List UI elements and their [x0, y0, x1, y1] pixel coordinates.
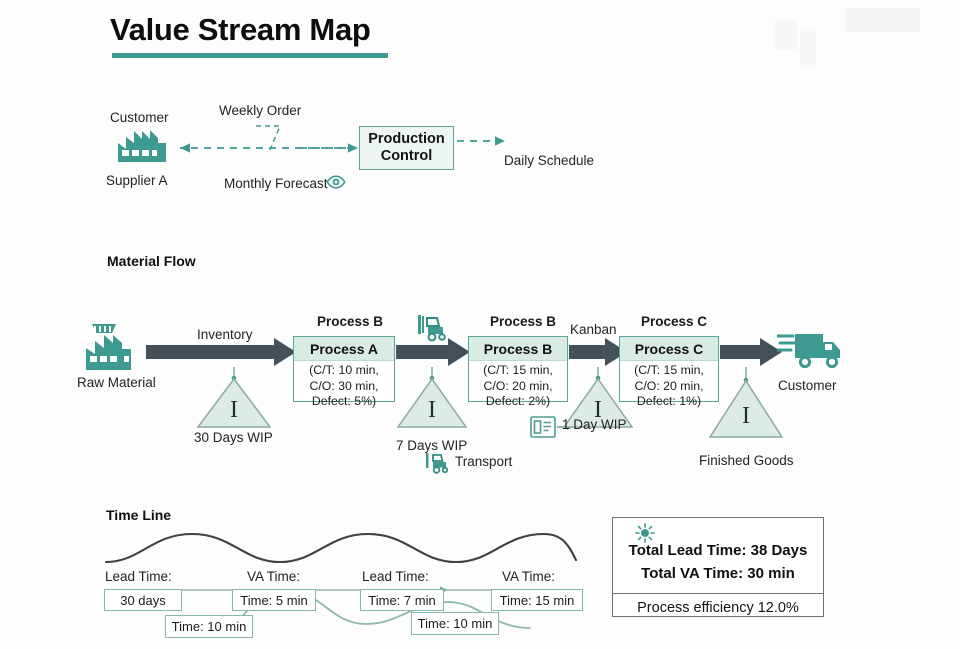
- process-title-1: Process A: [294, 337, 394, 361]
- timeline-label-4: VA Time:: [502, 569, 555, 584]
- process-metric: C/O: 30 min,: [298, 379, 390, 395]
- factory-hopper-icon: [80, 322, 142, 372]
- timeline-heading: Time Line: [106, 507, 171, 523]
- eye-icon: [326, 175, 346, 189]
- scan-artifact: [800, 28, 816, 68]
- inventory-triangle-2: I: [396, 367, 468, 429]
- process-metric: C/O: 20 min,: [473, 379, 563, 395]
- monthly-forecast-label: Monthly Forecast: [224, 176, 328, 191]
- timeline-box-lower-1: Time: 10 min: [165, 615, 253, 638]
- process-metric: Defect: 5%): [298, 394, 390, 410]
- production-control-line-1: Production: [368, 131, 445, 148]
- value-stream-map-canvas: Value Stream Map Customer Supplier A Wee…: [0, 0, 960, 649]
- daily-schedule-label: Daily Schedule: [504, 153, 594, 168]
- process-caption-1: Process B: [317, 314, 383, 329]
- forecast-connector: [254, 120, 304, 156]
- timeline-box-lead-2: Time: 7 min: [360, 589, 444, 611]
- process-metric: (C/T: 10 min,: [298, 363, 390, 379]
- inventory-symbol: I: [396, 397, 468, 424]
- raw-material-label: Raw Material: [77, 375, 156, 390]
- process-metric: Defect: 2%): [473, 394, 563, 410]
- delivery-truck-icon: [777, 330, 843, 372]
- process-caption-3: Process C: [641, 314, 707, 329]
- inventory-label-2: 7 Days WIP: [396, 438, 467, 453]
- process-title-2: Process B: [469, 337, 567, 361]
- inventory-label-4: Finished Goods: [699, 453, 794, 468]
- transport-caption: Transport: [455, 454, 512, 469]
- inventory-triangle-1: I: [196, 367, 272, 429]
- supplier-customer-label: Customer: [110, 110, 169, 125]
- process-box-1[interactable]: Process A (C/T: 10 min, C/O: 30 min, Def…: [293, 336, 395, 402]
- total-lead-time: Total Lead Time: 38 Days: [623, 540, 813, 563]
- material-arrow-2: [396, 338, 470, 366]
- weekly-order-label: Weekly Order: [219, 103, 301, 118]
- kanban-caption: Kanban: [570, 322, 617, 337]
- scan-artifact: [845, 8, 920, 32]
- process-metric: (C/T: 15 min,: [624, 363, 714, 379]
- material-flow-heading: Material Flow: [107, 253, 196, 269]
- process-box-2[interactable]: Process B (C/T: 15 min, C/O: 20 min, Def…: [468, 336, 568, 402]
- timeline-label-1: Lead Time:: [105, 569, 172, 584]
- process-metric: Defect: 1%): [624, 394, 714, 410]
- production-control-line-2: Control: [368, 148, 445, 165]
- process-efficiency: Process efficiency 12.0%: [613, 594, 823, 623]
- transport-forklift-icon: [425, 452, 451, 474]
- material-arrow-1: [146, 338, 296, 366]
- timeline-box-va-1: Time: 5 min: [232, 589, 316, 611]
- factory-icon: [116, 129, 168, 163]
- page-title: Value Stream Map: [110, 12, 371, 52]
- process-box-3[interactable]: Process C (C/T: 15 min, C/O: 20 min, Def…: [619, 336, 719, 402]
- timeline-box-va-2: Time: 15 min: [491, 589, 583, 611]
- inventory-triangle-4: I: [708, 367, 784, 439]
- production-control-box[interactable]: Production Control: [359, 126, 454, 170]
- kanban-card-icon: [530, 416, 556, 438]
- inventory-caption: Inventory: [197, 327, 253, 342]
- process-metric: (C/T: 15 min,: [473, 363, 563, 379]
- sun-burst-icon: [635, 523, 655, 543]
- order-to-control-arrow: [300, 140, 362, 156]
- timeline-label-3: Lead Time:: [362, 569, 429, 584]
- inventory-label-1: 30 Days WIP: [194, 430, 273, 445]
- process-caption-2: Process B: [490, 314, 556, 329]
- inventory-symbol: I: [708, 403, 784, 430]
- inventory-label-3: 1 Day WIP: [562, 417, 627, 432]
- scan-artifact: [775, 20, 797, 50]
- process-metric: C/O: 20 min,: [624, 379, 714, 395]
- timeline-label-2: VA Time:: [247, 569, 300, 584]
- title-underline: [112, 53, 388, 58]
- inventory-symbol: I: [196, 397, 272, 424]
- process-title-3: Process C: [620, 337, 718, 361]
- supplier-name-label: Supplier A: [106, 173, 168, 188]
- daily-schedule-arrow: [457, 133, 509, 149]
- customer-label: Customer: [778, 378, 837, 393]
- material-arrow-4: [720, 338, 782, 366]
- summary-panel: Total Lead Time: 38 Days Total VA Time: …: [612, 517, 824, 617]
- timeline-box-lead-1: 30 days: [104, 589, 182, 611]
- total-va-time: Total VA Time: 30 min: [623, 563, 813, 586]
- timeline-box-lower-2: Time: 10 min: [411, 612, 499, 635]
